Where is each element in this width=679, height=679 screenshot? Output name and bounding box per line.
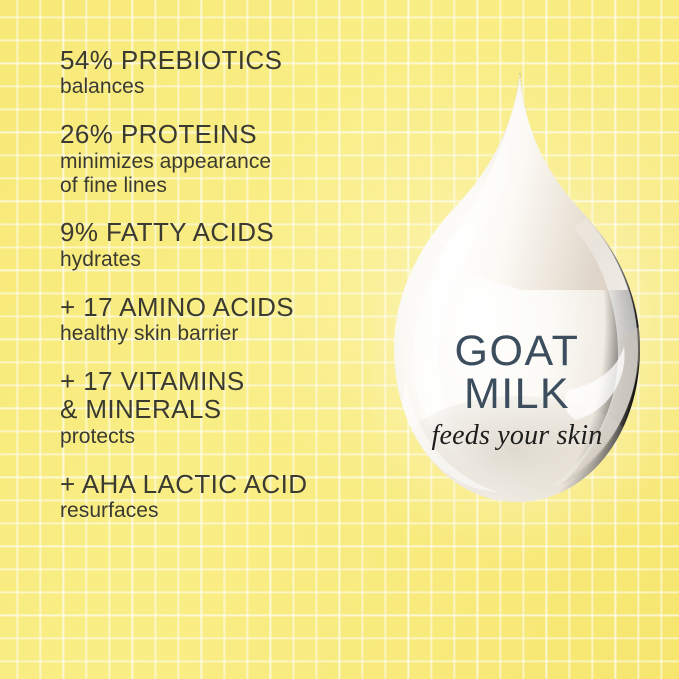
benefit-description: minimizes appearance of fine lines: [60, 150, 390, 198]
benefit-item-proteins: 26% PROTEINS minimizes appearance of fin…: [60, 120, 390, 197]
benefit-item-amino-acids: + 17 AMINO ACIDS healthy skin barrier: [60, 293, 390, 346]
benefit-description: balances: [60, 75, 390, 99]
benefit-item-fatty-acids: 9% FATTY ACIDS hydrates: [60, 218, 390, 271]
benefit-description: hydrates: [60, 248, 390, 272]
goat-milk-infographic: 54% PREBIOTICS balances 26% PROTEINS min…: [0, 0, 679, 679]
benefit-item-vitamins-minerals: + 17 VITAMINS & MINERALS protects: [60, 367, 390, 449]
benefit-description: healthy skin barrier: [60, 322, 390, 346]
benefit-title: 9% FATTY ACIDS: [60, 218, 390, 246]
benefits-list: 54% PREBIOTICS balances 26% PROTEINS min…: [60, 46, 390, 523]
benefit-item-prebiotics: 54% PREBIOTICS balances: [60, 46, 390, 99]
benefit-item-aha-lactic-acid: + AHA LACTIC ACID resurfaces: [60, 470, 390, 523]
benefit-title: 26% PROTEINS: [60, 120, 390, 148]
benefit-description: protects: [60, 425, 390, 449]
benefit-description: resurfaces: [60, 499, 390, 523]
benefit-title: + 17 AMINO ACIDS: [60, 293, 390, 321]
benefit-title: + AHA LACTIC ACID: [60, 470, 390, 498]
benefit-title: + 17 VITAMINS & MINERALS: [60, 367, 390, 424]
milk-droplet-graphic: GOAT MILK feeds your skin: [372, 58, 662, 558]
benefit-title: 54% PREBIOTICS: [60, 46, 390, 74]
milk-droplet-icon: [372, 58, 662, 558]
